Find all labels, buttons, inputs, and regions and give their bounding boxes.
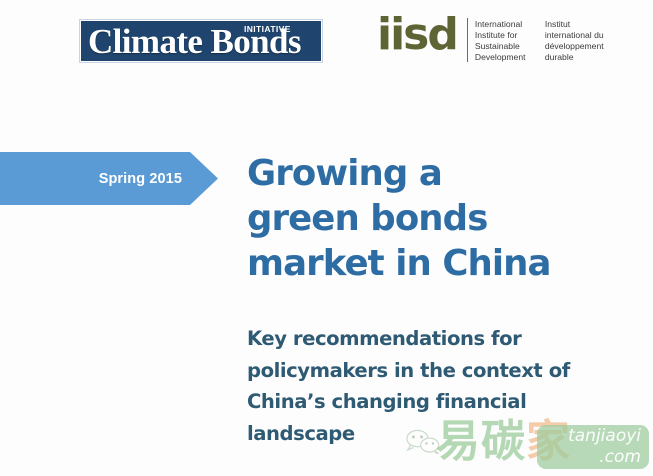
season-banner: Spring 2015 bbox=[0, 152, 218, 205]
cover-subtitle: Key recommendations for policymakers in … bbox=[247, 323, 647, 449]
cover-title-line: Growing a bbox=[247, 151, 647, 196]
cover-subtitle-line: landscape bbox=[247, 418, 647, 450]
season-banner-label: Spring 2015 bbox=[0, 152, 182, 205]
climate-bonds-initiative-logo: Climate Bonds INITIATIVE bbox=[79, 19, 323, 63]
iisd-name-english-line: Development bbox=[475, 52, 545, 63]
iisd-name-french-line: international du bbox=[545, 30, 635, 41]
iisd-name-french-line: durable bbox=[545, 52, 635, 63]
iisd-name-english-line: International bbox=[475, 19, 545, 30]
cover-title-line: green bonds bbox=[247, 196, 647, 241]
iisd-name-english-line: Institute for bbox=[475, 30, 545, 41]
iisd-name-french-line: développement bbox=[545, 41, 635, 52]
iisd-name-english-line: Sustainable bbox=[475, 41, 545, 52]
iisd-name-english: International Institute for Sustainable … bbox=[475, 19, 545, 63]
iisd-name-french: Institut international du développement … bbox=[545, 19, 635, 63]
cover-subtitle-line: China’s changing financial bbox=[247, 386, 647, 418]
logo-row: Climate Bonds INITIATIVE iisd Internatio… bbox=[0, 0, 653, 86]
watermark-site-tld: .com bbox=[537, 447, 641, 468]
cover-subtitle-line: Key recommendations for bbox=[247, 323, 647, 355]
iisd-logo: iisd International Institute for Sustain… bbox=[377, 14, 635, 66]
cover-title-line: market in China bbox=[247, 241, 647, 286]
iisd-divider bbox=[467, 18, 468, 62]
climate-bonds-initiative-superscript: INITIATIVE bbox=[244, 24, 291, 34]
cover-title: Growing a green bonds market in China bbox=[247, 151, 647, 286]
report-cover-page: Climate Bonds INITIATIVE iisd Internatio… bbox=[0, 0, 653, 476]
iisd-wordmark: iisd bbox=[377, 12, 457, 58]
iisd-name-french-line: Institut bbox=[545, 19, 635, 30]
cover-subtitle-line: policymakers in the context of bbox=[247, 355, 647, 387]
